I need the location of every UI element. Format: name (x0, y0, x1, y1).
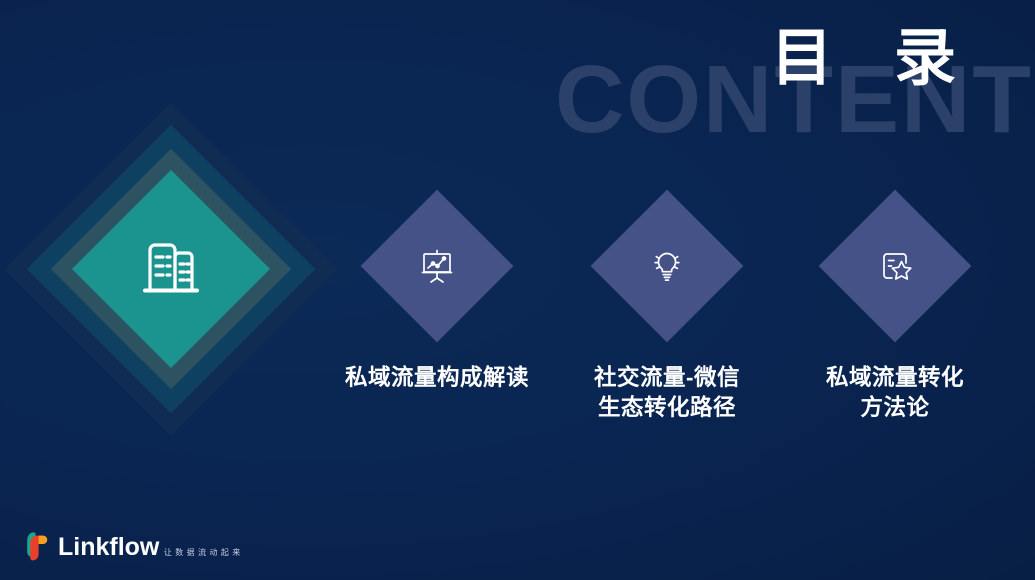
logo-tagline: 让数据流动起来 (164, 548, 244, 557)
slide-heading: CONTENT 目 录 (565, 0, 1035, 170)
brand-logo: Linkflow 让数据流动起来 (24, 530, 244, 564)
content-item-3[interactable]: 私域流量转化 方法论 (780, 190, 1010, 423)
lightbulb-icon (646, 245, 688, 287)
content-item-1[interactable]: 私域流量构成解读 (322, 190, 552, 393)
content-item-1-label: 私域流量构成解读 (322, 363, 552, 393)
logo-text: Linkflow 让数据流动起来 (58, 535, 244, 560)
linkflow-logo-mark (24, 530, 50, 564)
content-items: 私域流量构成解读 (322, 190, 1022, 430)
content-item-1-diamond (361, 190, 513, 342)
document-star-icon (874, 245, 916, 287)
content-item-3-diamond (819, 190, 971, 342)
page-title: 目 录 (771, 28, 978, 90)
content-item-2[interactable]: 社交流量-微信 生态转化路径 (552, 190, 782, 423)
content-item-2-diamond (591, 190, 743, 342)
hero-diamond (8, 106, 334, 432)
content-item-3-label: 私域流量转化 方法论 (780, 363, 1010, 423)
buildings-icon (134, 232, 208, 306)
presentation-chart-icon (416, 245, 458, 287)
content-item-2-label: 社交流量-微信 生态转化路径 (552, 363, 782, 423)
presentation-slide: CONTENT 目 录 (0, 0, 1035, 580)
logo-wordmark: Linkflow (58, 533, 159, 561)
